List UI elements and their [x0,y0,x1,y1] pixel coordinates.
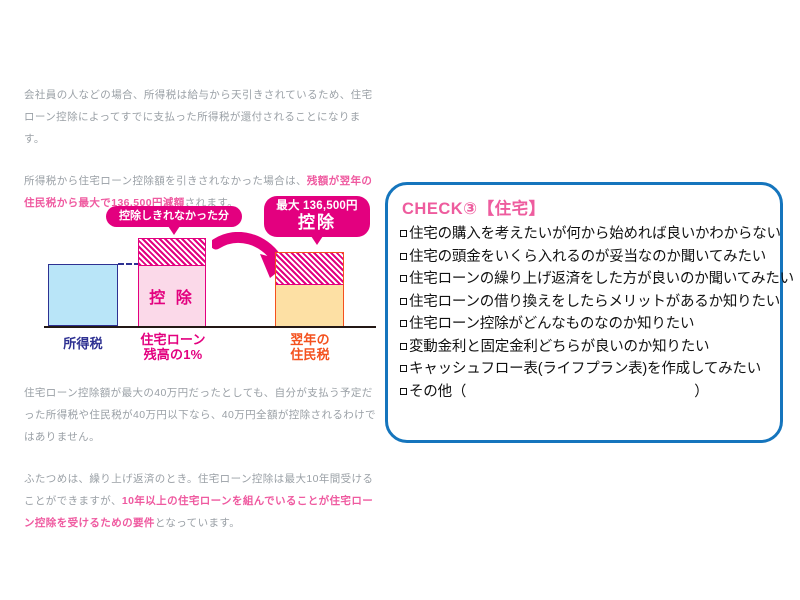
bar-segment-hatch [139,239,205,266]
checkbox-icon[interactable] [400,275,407,282]
axis-label-line: 住宅ローン [128,332,218,347]
deduction-bar-chart: 控除しきれなかった分 最大 136,500円 控除 控 除 所得税 住宅ローン … [24,192,380,372]
check-list-item[interactable]: 住宅の購入を考えたいが何から始めれば良いかわからない [400,223,770,246]
bar-income-tax [48,264,118,326]
check-list-item-label: その他（ [409,381,466,404]
bar-loan-balance: 控 除 [138,238,206,326]
callout-max-deduction-word: 控除 [264,213,370,232]
check-list-item-label: 住宅ローンの繰り上げ返済をした方が良いのか聞いてみたい [409,268,794,291]
check-list-item-label: 変動金利と固定金利どちらが良いのか知りたい [409,336,709,359]
callout-max-deduction: 最大 136,500円 控除 [264,196,370,237]
checkbox-icon[interactable] [400,320,407,327]
check-panel-title: CHECK③【住宅】 [402,195,546,219]
axis-label-line: 住民税 [267,347,353,362]
checkbox-icon[interactable] [400,298,407,305]
axis-label-loan-balance: 住宅ローン 残高の1% [128,332,218,362]
article-paragraph: 住宅ローン控除額が最大の40万円だったとしても、自分が支払う予定だった所得税や住… [24,382,376,448]
check-list-item[interactable]: 住宅ローン控除がどんなものなのか知りたい [400,313,770,336]
bar-resident-tax [275,252,344,326]
axis-label-line: 翌年の [267,332,353,347]
check-panel: CHECK③【住宅】 住宅の購入を考えたいが何から始めれば良いかわからない 住宅… [385,182,783,443]
chart-dashed-connector [118,263,140,265]
check-list-item-label: 住宅の購入を考えたいが何から始めれば良いかわからない [409,223,781,246]
check-list-item-label: 住宅ローン控除がどんなものなのか知りたい [409,313,694,336]
paragraph-run: となっています。 [155,517,240,529]
checkbox-icon[interactable] [400,365,407,372]
check-list-item-other[interactable]: その他（ ） [400,381,770,404]
callout-unused-deduction: 控除しきれなかった分 [106,206,242,227]
check-list-item-label: キャッシュフロー表(ライフプラン表)を作成してみたい [409,358,761,381]
check-list-item[interactable]: 変動金利と固定金利どちらが良いのか知りたい [400,336,770,359]
checkbox-icon[interactable] [400,343,407,350]
checkbox-icon[interactable] [400,388,407,395]
article-paragraph: ふたつめは、繰り上げ返済のとき。住宅ローン控除は最大10年間受けることができます… [24,468,376,534]
check-list-item-suffix: ） [694,381,708,404]
paragraph-run: 会社員の人などの場合、所得税は給与から天引きされているため、住宅ローン控除によっ… [24,89,372,145]
callout-max-deduction-amount: 最大 136,500円 [264,199,370,213]
check-list-item-label: 住宅ローンの借り換えをしたらメリットがあるか知りたい [409,291,780,314]
check-list-item[interactable]: 住宅の頭金をいくら入れるのが妥当なのか聞いてみたい [400,246,770,269]
article-paragraph: 会社員の人などの場合、所得税は給与から天引きされているため、住宅ローン控除によっ… [24,84,376,150]
check-list-item-label: 住宅の頭金をいくら入れるのが妥当なのか聞いてみたい [409,246,766,269]
callout-unused-deduction-label: 控除しきれなかった分 [119,210,229,222]
axis-label-line: 残高の1% [128,347,218,362]
paragraph-run: 住宅ローン控除額が最大の40万円だったとしても、自分が支払う予定だった所得税や住… [24,387,376,443]
check-list-item[interactable]: キャッシュフロー表(ライフプラン表)を作成してみたい [400,358,770,381]
check-list: 住宅の購入を考えたいが何から始めれば良いかわからない 住宅の頭金をいくら入れるの… [400,223,770,403]
paragraph-run: 所得税から住宅ローン控除額を引きされなかった場合は、 [24,175,307,187]
chart-baseline [44,326,376,328]
bar-segment-hatch [276,253,343,285]
axis-label-resident-tax: 翌年の 住民税 [267,332,353,362]
checkbox-icon[interactable] [400,253,407,260]
bar-segment-solid: 控 除 [139,266,205,326]
bar-segment-solid [276,285,343,326]
check-list-item[interactable]: 住宅ローンの借り換えをしたらメリットがあるか知りたい [400,291,770,314]
axis-label-income-tax: 所得税 [34,336,132,351]
bar-inner-label: 控 除 [149,284,194,308]
checkbox-icon[interactable] [400,230,407,237]
article-column-lower: 住宅ローン控除額が最大の40万円だったとしても、自分が支払う予定だった所得税や住… [24,382,376,534]
check-list-item[interactable]: 住宅ローンの繰り上げ返済をした方が良いのか聞いてみたい [400,268,770,291]
